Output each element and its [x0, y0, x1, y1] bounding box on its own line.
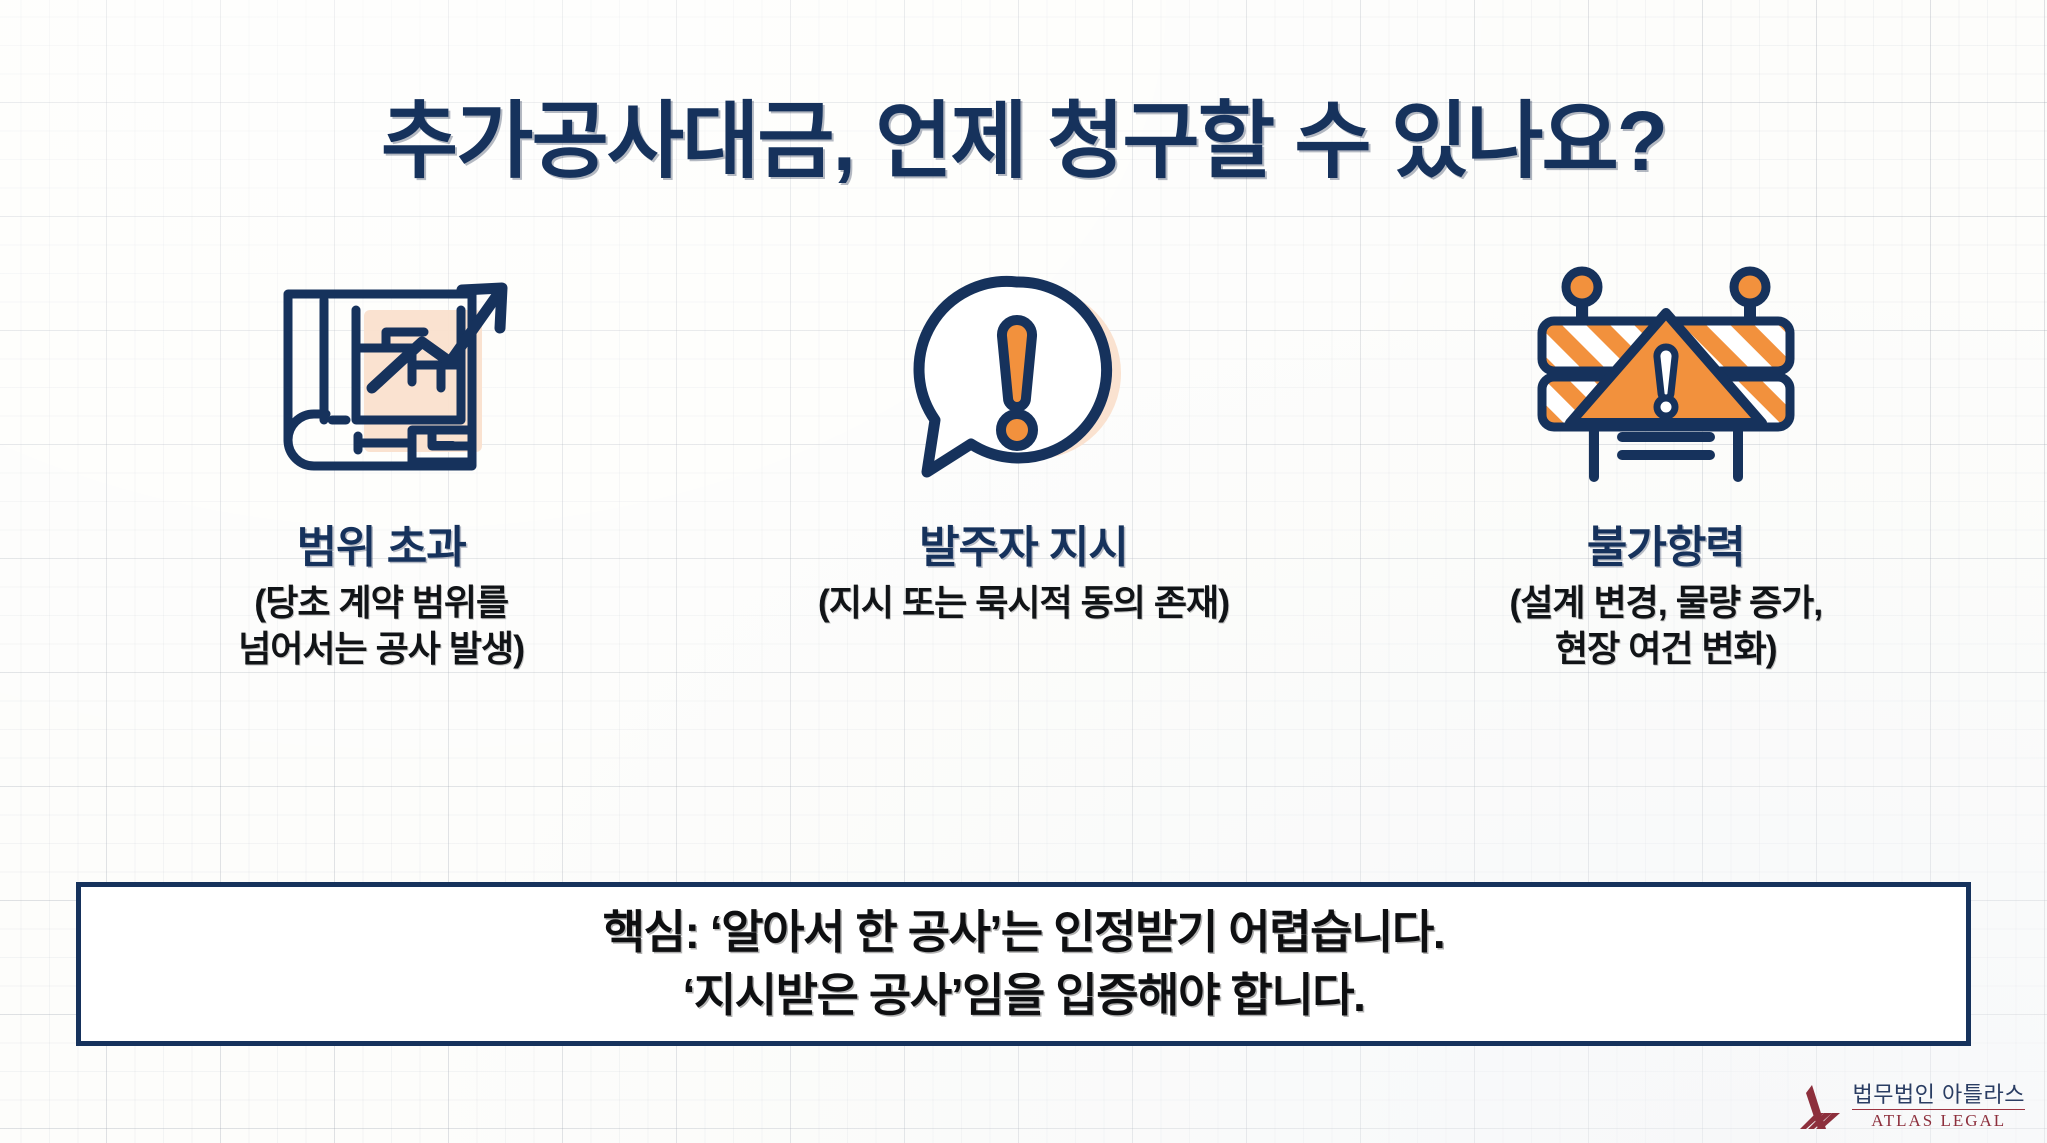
reason-subtitle: (설계 변경, 물량 증가, 현장 여건 변화) — [1509, 580, 1822, 672]
construction-barrier-warning-icon-wrap — [1526, 255, 1806, 485]
speech-bubble-exclamation-icon-wrap — [903, 255, 1143, 485]
atlas-chevron-mark-icon — [1796, 1083, 1842, 1131]
blueprint-growth-icon-wrap — [236, 255, 526, 485]
reasons-row: 범위 초과 (당초 계약 범위를 넘어서는 공사 발생) 발주자 지시 (지시 … — [60, 255, 1987, 672]
reason-column-force-majeure: 불가항력 (설계 변경, 물량 증가, 현장 여건 변화) — [1345, 255, 1987, 672]
reason-subtitle: (당초 계약 범위를 넘어서는 공사 발생) — [238, 580, 524, 672]
blueprint-growth-icon — [236, 270, 526, 485]
reason-subtitle: (지시 또는 묵시적 동의 존재) — [818, 580, 1229, 626]
key-message-line-1: 핵심: ‘알아서 한 공사’는 인정받기 어렵습니다. — [603, 901, 1445, 964]
page-title: 추가공사대금, 언제 청구할 수 있나요? — [0, 74, 2047, 195]
firm-name-english: ATLAS LEGAL — [1871, 1111, 2006, 1131]
reason-column-client-instruction: 발주자 지시 (지시 또는 묵시적 동의 존재) — [702, 255, 1344, 672]
key-message-line-2: ‘지시받은 공사’임을 입증해야 합니다. — [682, 964, 1364, 1027]
reason-title: 불가항력 — [1587, 523, 1745, 572]
key-message-box: 핵심: ‘알아서 한 공사’는 인정받기 어렵습니다. ‘지시받은 공사’임을 … — [76, 882, 1971, 1046]
firm-name-korean: 법무법인 아틀라스 — [1852, 1082, 2025, 1107]
firm-logo: 법무법인 아틀라스 ATLAS LEGAL — [1796, 1082, 2025, 1131]
construction-barrier-warning-icon — [1526, 265, 1806, 485]
infographic-canvas: 추가공사대금, 언제 청구할 수 있나요? — [0, 0, 2047, 1143]
reason-title: 발주자 지시 — [919, 523, 1128, 572]
reason-column-scope-exceeded: 범위 초과 (당초 계약 범위를 넘어서는 공사 발생) — [60, 255, 702, 672]
speech-bubble-exclamation-icon — [903, 270, 1143, 485]
logo-divider — [1852, 1109, 2025, 1110]
reason-title: 범위 초과 — [297, 523, 466, 572]
